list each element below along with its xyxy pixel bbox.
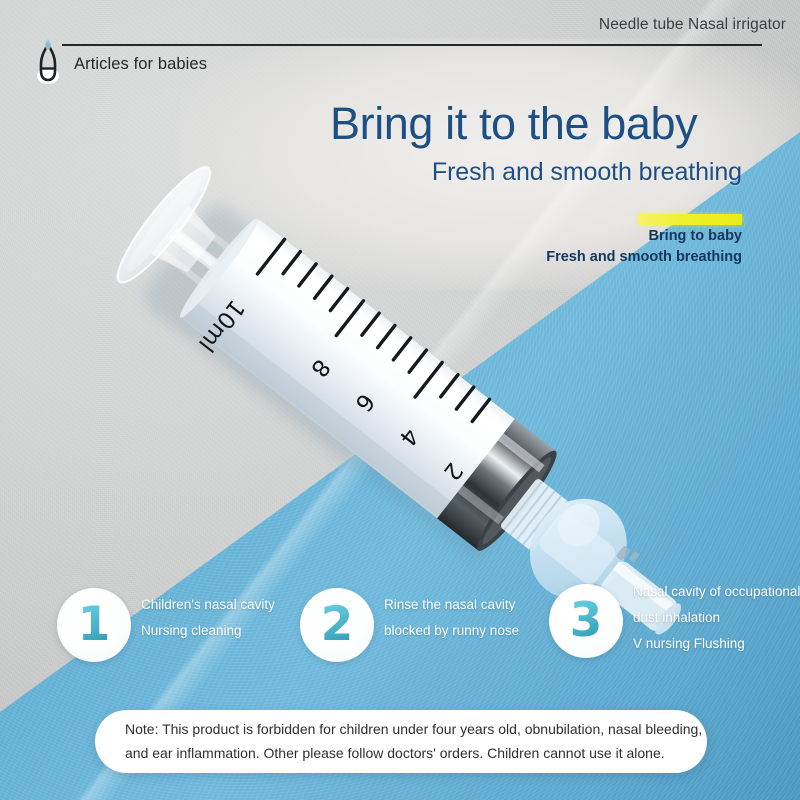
feature-line: Children's nasal cavity (141, 592, 275, 618)
header-divider-line (62, 44, 762, 46)
product-category-label: Needle tube Nasal irrigator (599, 16, 786, 34)
feature-line: Nasal cavity of occupational (633, 579, 800, 605)
feature-line: blocked by runny nose (384, 618, 519, 644)
note-line-1: Note: This product is forbidden for chil… (125, 718, 677, 742)
feature-description: Rinse the nasal cavity blocked by runny … (384, 592, 519, 645)
feature-line: dust inhalation (633, 605, 800, 631)
feature-line: V nursing Flushing (633, 631, 800, 657)
page-subtitle: Fresh and smooth breathing (330, 158, 750, 187)
accent-bar (638, 214, 742, 225)
badge-line-1: Bring to baby (440, 226, 742, 247)
feature-line: Rinse the nasal cavity (384, 592, 519, 618)
note-line-2: and ear inflammation. Other please follo… (125, 742, 677, 766)
feature-line: Nursing cleaning (141, 618, 275, 644)
page-title: Bring it to the baby (330, 100, 750, 149)
feature-number: 3 (570, 597, 603, 644)
feature-number: 2 (321, 601, 354, 648)
feature-description: Children's nasal cavity Nursing cleaning (141, 592, 275, 645)
feature-number-circle: 2 (300, 588, 374, 662)
brand-label: Articles for babies (74, 55, 207, 74)
feature-description: Nasal cavity of occupational dust inhala… (633, 579, 800, 657)
feature-number-circle: 3 (549, 584, 623, 658)
badge-line-2: Fresh and smooth breathing (440, 247, 742, 268)
product-banner: Articles for babies Needle tube Nasal ir… (0, 0, 800, 800)
feature-number: 1 (78, 601, 111, 648)
badge-tagline: Bring to baby Fresh and smooth breathing (440, 226, 742, 267)
feature-number-circle: 1 (57, 588, 131, 662)
baby-bottle-icon (28, 38, 68, 84)
warning-note: Note: This product is forbidden for chil… (95, 710, 707, 773)
